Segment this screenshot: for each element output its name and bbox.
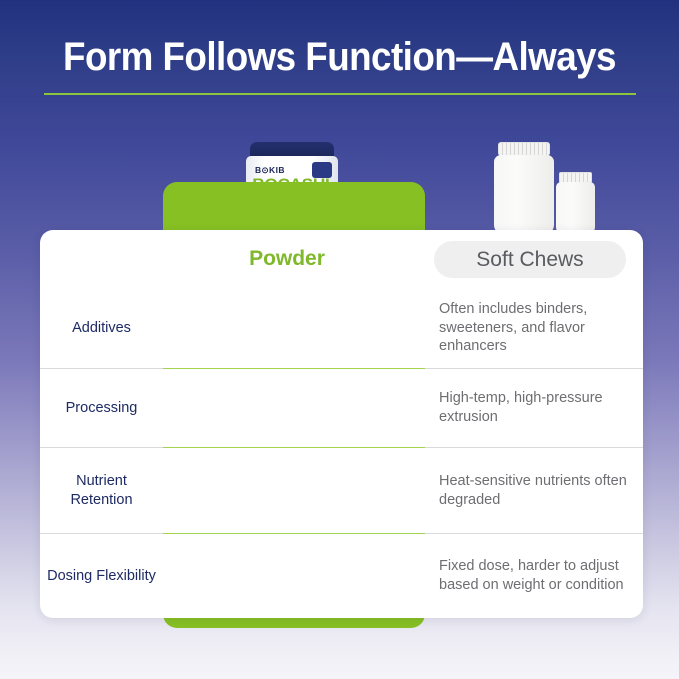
small-bottle-cap-icon <box>559 172 592 183</box>
table-row: Dosing Flexibility Easily adjusted, mix … <box>40 533 643 618</box>
table-row: Additives No binders, flavorings, or mas… <box>40 288 643 368</box>
row-powder-value: No binders, flavorings, or masking agent… <box>163 288 425 368</box>
soft-chews-bottles-image <box>487 142 592 234</box>
row-softchews-value: Often includes binders, sweeteners, and … <box>425 288 643 368</box>
row-feature-label: Additives <box>40 288 163 368</box>
title-underline-rule <box>44 93 636 95</box>
large-bottle-body <box>494 155 554 234</box>
row-powder-value: Easily adjusted, mix with food or water <box>163 533 425 618</box>
row-softchews-value: High-temp, high-pressure extrusion <box>425 368 643 447</box>
row-softchews-value: Fixed dose, harder to adjust based on we… <box>425 533 643 618</box>
jar-lid <box>250 142 334 159</box>
page-title-block: Form Follows Function—Always <box>0 36 679 79</box>
row-powder-value: Preserves probiotics, enzymes, and activ… <box>163 447 425 533</box>
page-title: Form Follows Function—Always <box>27 36 652 79</box>
table-row: Processing Low-temp, minimal processing … <box>40 368 643 447</box>
jar-seal-badge-icon <box>312 162 332 178</box>
comparison-table: Additives No binders, flavorings, or mas… <box>40 230 643 618</box>
row-powder-value: Low-temp, minimal processing <box>163 368 425 447</box>
column-header-soft-chews: Soft Chews <box>434 241 626 278</box>
large-bottle-cap-icon <box>498 142 550 156</box>
row-feature-label: Processing <box>40 368 163 447</box>
column-header-powder: Powder <box>196 240 378 278</box>
row-feature-label: Nutrient Retention <box>40 447 163 533</box>
row-softchews-value: Heat-sensitive nutrients often degraded <box>425 447 643 533</box>
small-bottle-body <box>556 182 595 234</box>
table-row: Nutrient Retention Preserves probiotics,… <box>40 447 643 533</box>
row-feature-label: Dosing Flexibility <box>40 533 163 618</box>
jar-brand-text: B⊙KIB <box>255 165 285 176</box>
